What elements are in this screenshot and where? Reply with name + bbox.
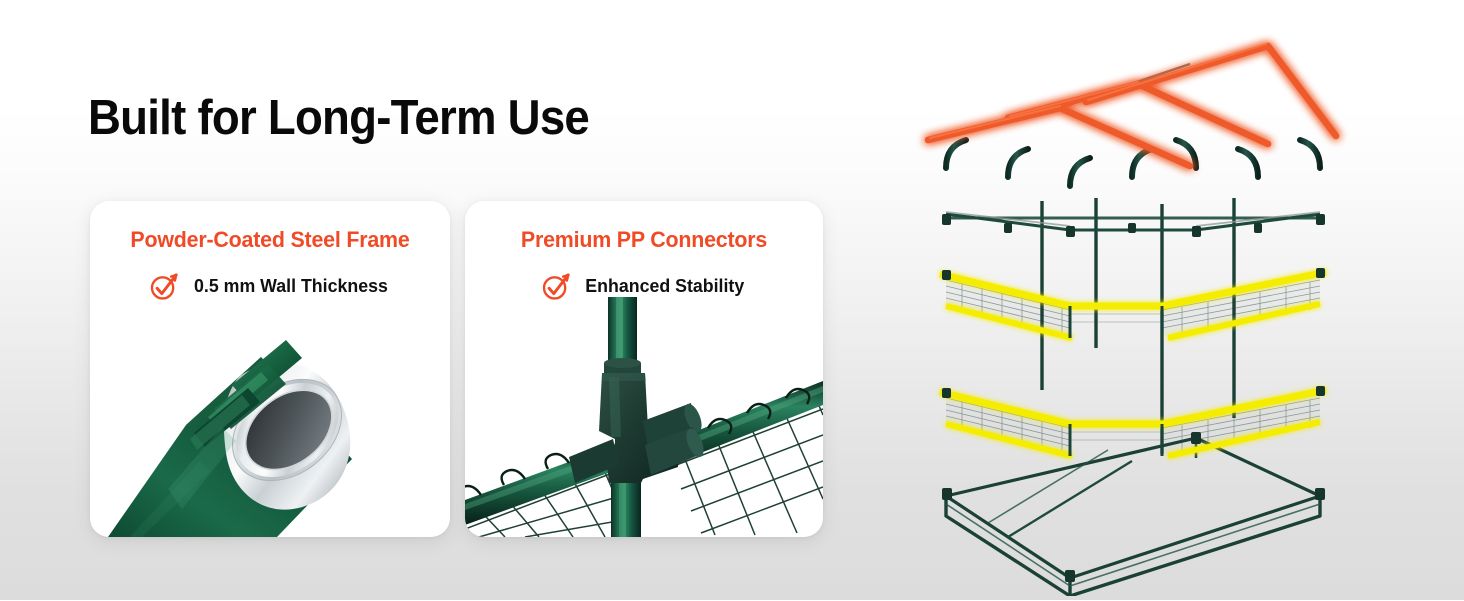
page-title: Built for Long-Term Use <box>88 90 589 146</box>
greenhouse-frame-illustration <box>900 18 1400 596</box>
feature-card-bullet-text: Enhanced Stability <box>585 275 744 297</box>
promo-banner: Built for Long-Term Use Powder-Coated St… <box>0 0 1464 600</box>
steel-pipe-illustration <box>90 313 450 537</box>
feature-card-bullet: 0.5 mm Wall Thickness <box>90 271 450 301</box>
feature-card-premium-pp-connectors: Premium PP Connectors Enhanced Stability <box>465 201 823 537</box>
feature-card-powder-coated-steel-frame: Powder-Coated Steel Frame 0.5 mm Wall Th… <box>90 201 450 537</box>
feature-card-title: Premium PP Connectors <box>474 227 814 253</box>
feature-card-bullet-text: 0.5 mm Wall Thickness <box>194 275 388 297</box>
feature-card-title: Powder-Coated Steel Frame <box>99 227 441 253</box>
pp-connector-illustration <box>465 297 823 537</box>
check-circle-icon <box>149 271 179 301</box>
